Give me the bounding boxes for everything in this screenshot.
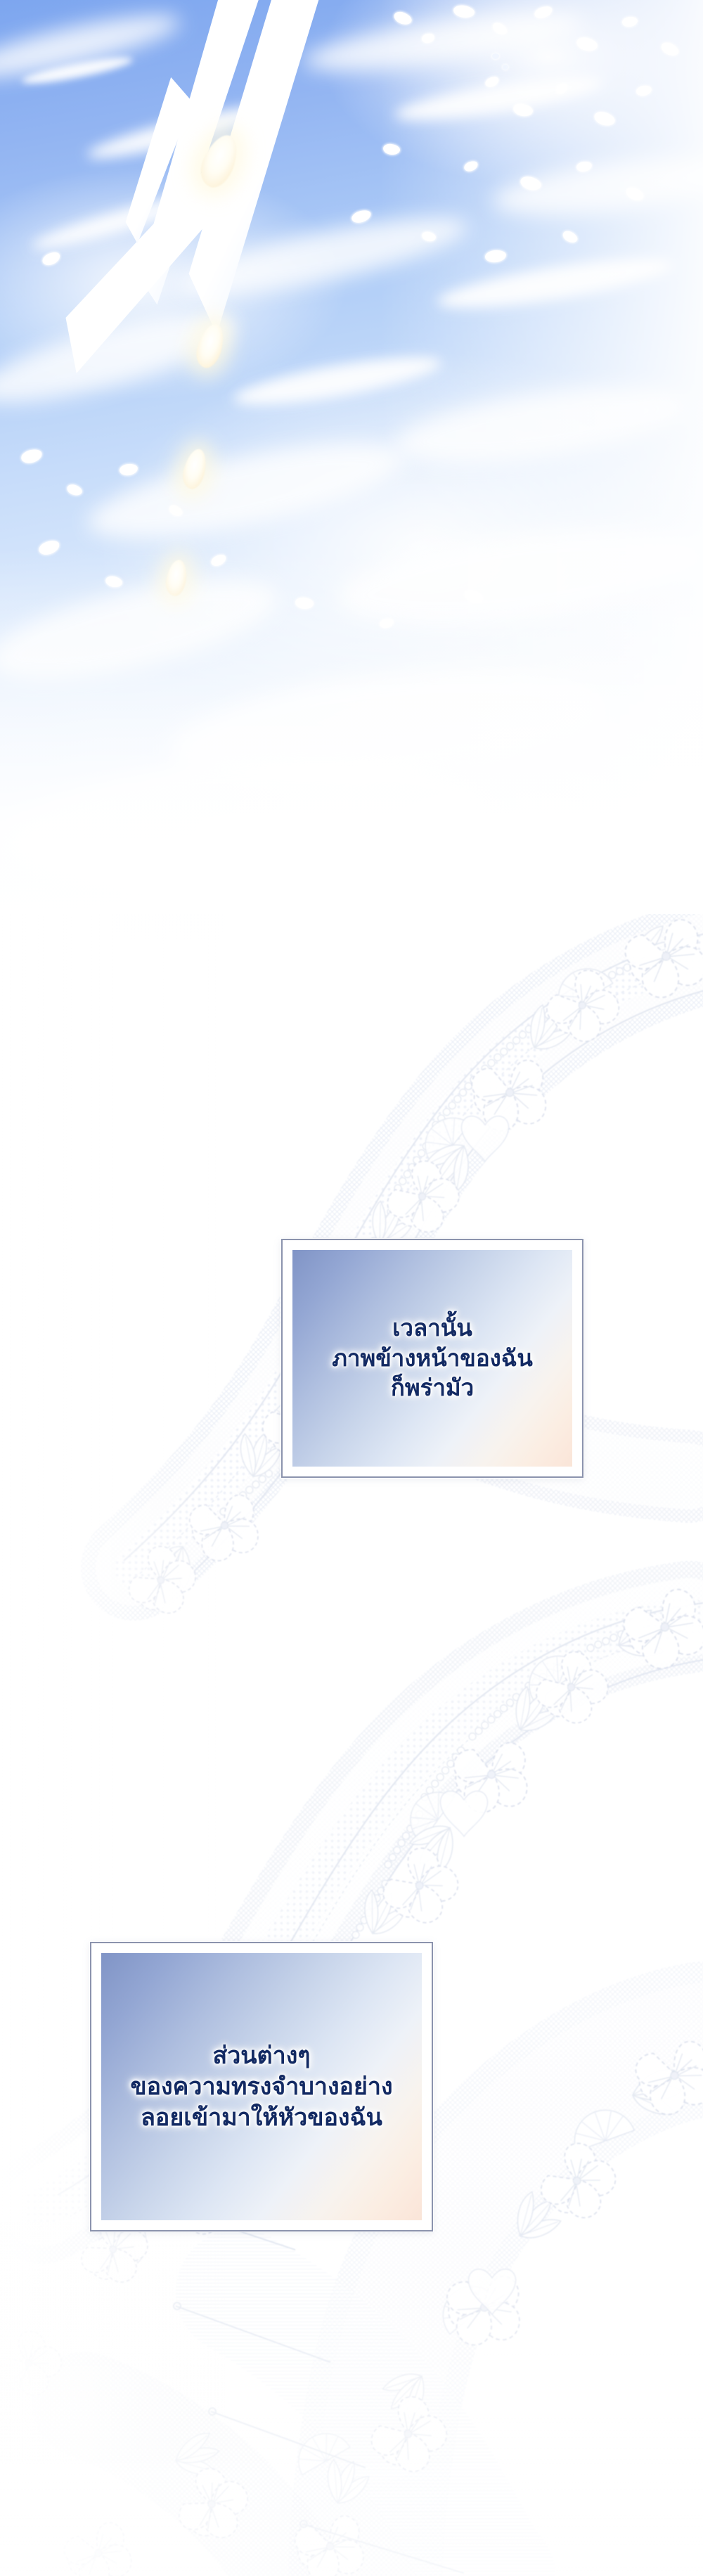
ice-fleck — [20, 447, 44, 465]
dialogue-line: ลอยเข้ามาให้หัวของฉัน — [141, 2102, 382, 2133]
ice-fleck — [41, 250, 62, 267]
dialogue-box-1-inner: เวลานั้น ภาพข้างหน้าของฉัน ก็พร่ามัว — [292, 1250, 572, 1467]
dialogue-line: เวลานั้น — [392, 1313, 472, 1344]
sky-bottom-fade — [0, 548, 703, 942]
ice-fleck — [119, 463, 138, 476]
dialogue-line: ส่วนต่างๆ — [212, 2040, 310, 2071]
dialogue-box-1[interactable]: เวลานั้น ภาพข้างหน้าของฉัน ก็พร่ามัว — [281, 1239, 583, 1478]
ice-fleck — [65, 483, 83, 498]
dialogue-box-2-inner: ส่วนต่างๆ ของความทรงจำบางอย่าง ลอยเข้ามา… — [101, 1953, 422, 2220]
cloud-streak — [81, 424, 411, 558]
dialogue-line: ภาพข้างหน้าของฉัน — [332, 1344, 533, 1374]
dialogue-box-2[interactable]: ส่วนต่างๆ ของความทรงจำบางอย่าง ลอยเข้ามา… — [90, 1942, 433, 2232]
lace-overlay — [0, 914, 703, 2576]
dialogue-line: ของความทรงจำบางอย่าง — [130, 2071, 392, 2102]
ice-fleck — [350, 208, 373, 225]
sky-background — [0, 0, 703, 942]
dialogue-line: ก็พร่ามัว — [391, 1373, 474, 1403]
comic-panel: เวลานั้น ภาพข้างหน้าของฉัน ก็พร่ามัว ส่ว… — [0, 0, 703, 2576]
bottom-white-veil — [0, 2222, 703, 2576]
